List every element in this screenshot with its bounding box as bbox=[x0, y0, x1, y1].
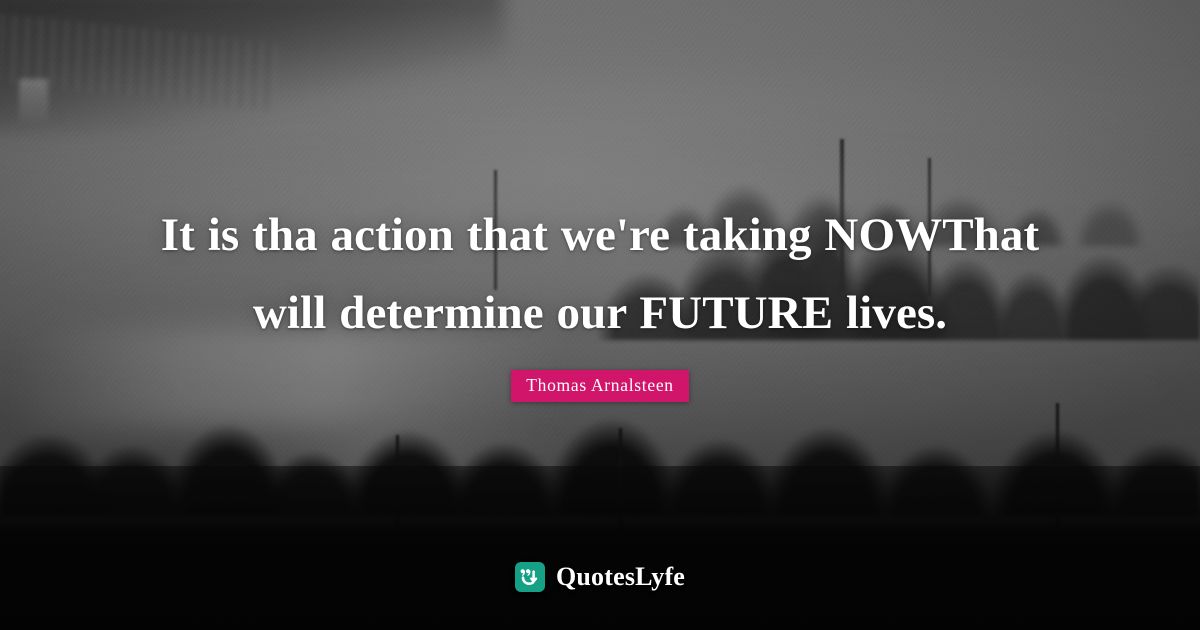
quote-block: It is tha action that we're taking NOWTh… bbox=[100, 196, 1100, 402]
author-row: Thomas Arnalsteen bbox=[100, 370, 1100, 402]
quote-line-2: will determine our FUTURE lives. bbox=[100, 274, 1100, 352]
quote-mark-icon bbox=[515, 562, 545, 592]
quote-card: It is tha action that we're taking NOWTh… bbox=[0, 0, 1200, 630]
quote-line-1: It is tha action that we're taking NOWTh… bbox=[100, 196, 1100, 274]
brand-footer: QuotesLyfe bbox=[0, 562, 1200, 592]
author-name-badge: Thomas Arnalsteen bbox=[511, 370, 689, 402]
card-content: It is tha action that we're taking NOWTh… bbox=[0, 0, 1200, 630]
brand-wordmark: QuotesLyfe bbox=[556, 562, 685, 592]
